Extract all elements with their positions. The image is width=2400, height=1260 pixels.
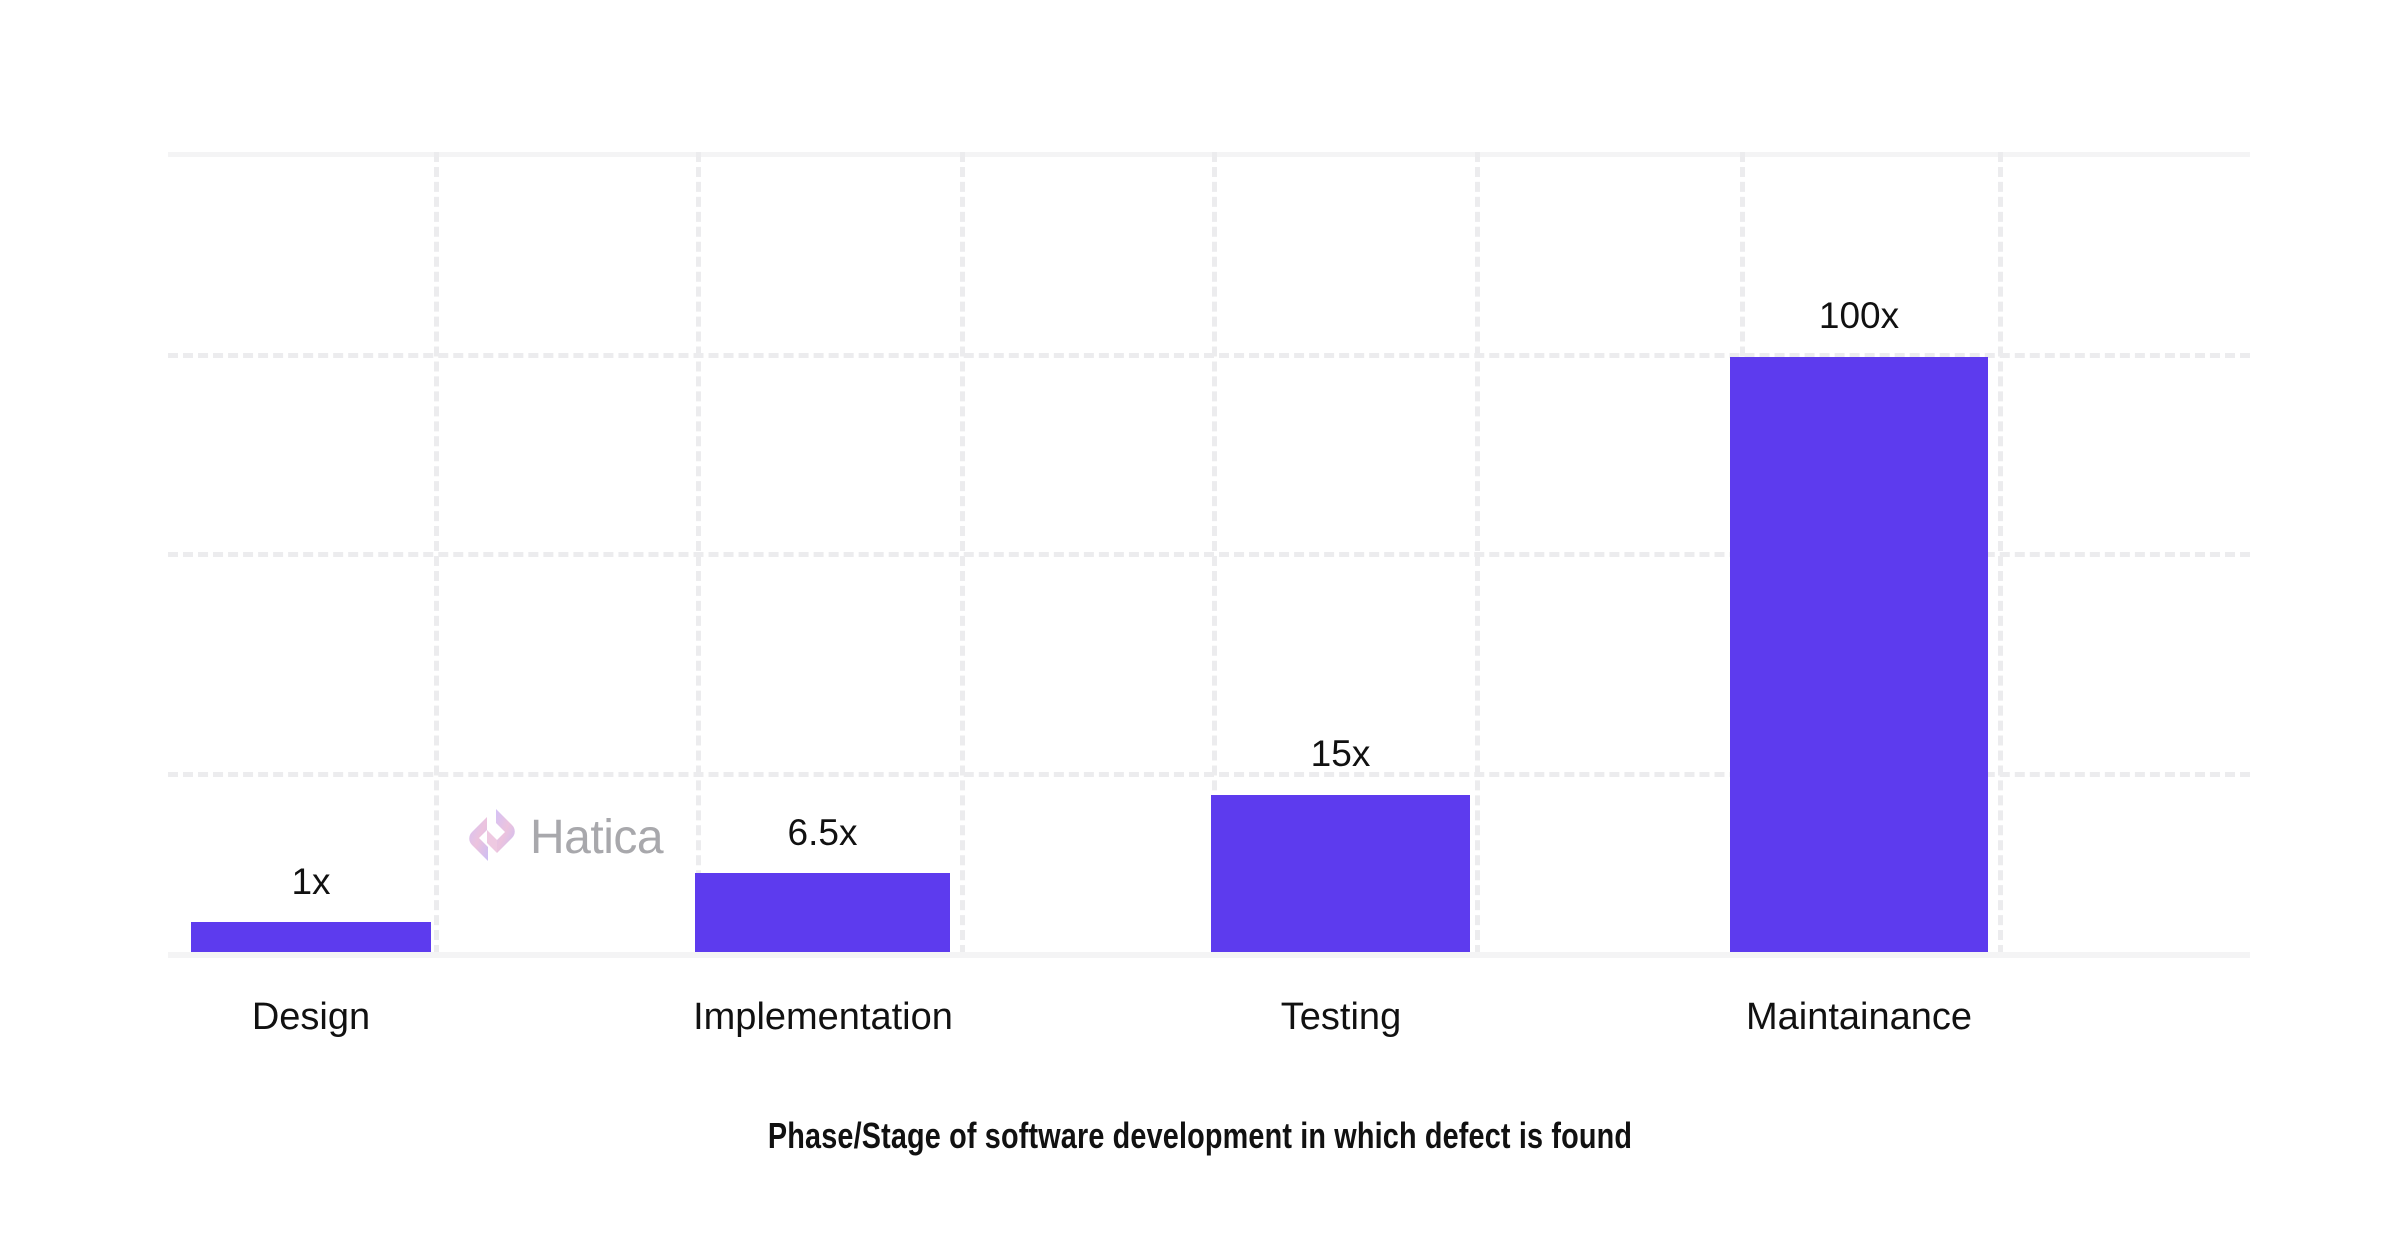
- gridline-horizontal-top: [168, 152, 2250, 157]
- bar-value-implementation: 6.5x: [695, 812, 950, 854]
- gridline-vertical-3: [960, 152, 965, 955]
- bar-value-maintainance: 100x: [1730, 295, 1988, 337]
- category-label-design: Design: [171, 996, 451, 1039]
- x-axis-title: Phase/Stage of software development in w…: [240, 1115, 2160, 1157]
- category-label-implementation: Implementation: [673, 996, 973, 1039]
- bar-maintainance[interactable]: [1730, 357, 1988, 955]
- gridline-vertical-1: [434, 152, 439, 955]
- gridline-vertical-7: [1998, 152, 2003, 955]
- plot-area: [168, 152, 2250, 955]
- bar-chart: 1x 6.5x 15x 100x Design Implementation T…: [0, 0, 2400, 1260]
- bar-implementation[interactable]: [695, 873, 950, 955]
- gridline-vertical-5: [1475, 152, 1480, 955]
- category-label-maintainance: Maintainance: [1709, 996, 2009, 1039]
- category-label-testing: Testing: [1191, 996, 1491, 1039]
- bar-testing[interactable]: [1211, 795, 1470, 955]
- bar-design[interactable]: [191, 922, 431, 955]
- bar-value-testing: 15x: [1211, 733, 1470, 775]
- x-axis-line: [168, 952, 2250, 958]
- bar-value-design: 1x: [191, 861, 431, 903]
